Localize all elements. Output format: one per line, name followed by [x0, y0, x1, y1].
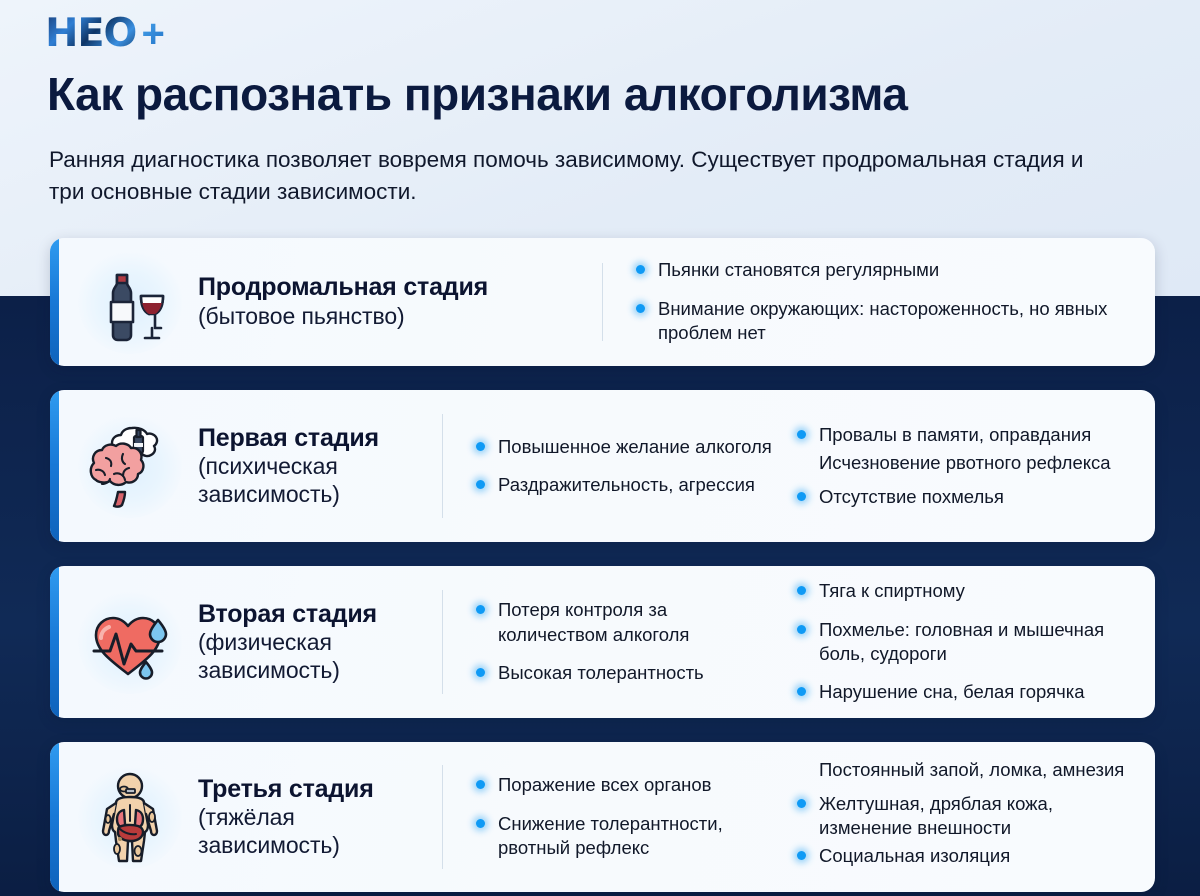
symptom-columns: Пьянки становятся регулярными Внимание о…: [603, 238, 1155, 366]
stage-title: Вторая стадия: [198, 600, 442, 630]
stage-subtitle: (психическая зависимость): [198, 453, 442, 508]
list-item: Высокая толерантность: [476, 661, 773, 685]
list-item: Исчезновение рвотного рефлекса: [797, 451, 1133, 475]
bullet-dot-icon: [476, 819, 485, 828]
symptom-columns: Поражение всех органов Снижение толерант…: [443, 742, 1155, 892]
list-item-label: Исчезновение рвотного рефлекса: [819, 452, 1111, 473]
list-item: Раздражительность, агрессия: [476, 473, 773, 497]
list-item-label: Тяга к спиртному: [819, 580, 965, 601]
list-item: Похмелье: головная и мышечная боль, судо…: [797, 618, 1133, 667]
list-item-label: Потеря контроля за количеством алкоголя: [498, 599, 689, 644]
list-item-label: Пьянки становятся регулярными: [658, 259, 939, 280]
symptom-columns: Повышенное желание алкоголя Раздражитель…: [443, 390, 1155, 542]
bullet-dot-icon: [797, 687, 806, 696]
heart-with-pulse-icon: [78, 590, 182, 694]
list-item: Поражение всех органов: [476, 773, 773, 797]
list-item: Снижение толерантности, рвотный рефлекс: [476, 812, 773, 861]
symptom-columns: Потеря контроля за количеством алкоголя …: [443, 566, 1155, 718]
list-item: Постоянный запой, ломка, амнезия: [797, 758, 1133, 782]
list-item-label: Внимание окружающих: настороженность, но…: [658, 298, 1107, 343]
symptom-column-b: Постоянный запой, ломка, амнезия Желтушн…: [773, 758, 1133, 876]
list-item-label: Нарушение сна, белая горячка: [819, 681, 1085, 702]
bullet-dot-icon: [476, 442, 485, 451]
bullet-dot-icon: [797, 492, 806, 501]
list-item: Тяга к спиртному: [797, 579, 1133, 603]
list-item: Нарушение сна, белая горячка: [797, 680, 1133, 704]
list-item-label: Повышенное желание алкоголя: [498, 436, 772, 457]
list-item-label: Провалы в памяти, оправдания: [819, 424, 1091, 445]
wine-bottle-and-glass-icon: [78, 250, 182, 354]
brand-logo-plus: +: [141, 16, 163, 52]
page-subtitle: Ранняя диагностика позволяет вовремя пом…: [49, 144, 1109, 208]
bullet-dot-icon: [797, 430, 806, 439]
list-item-label: Желтушная, дряблая кожа, изменение внешн…: [819, 793, 1053, 838]
symptom-column-a: Потеря контроля за количеством алкоголя …: [443, 591, 773, 692]
list-item-label: Снижение толерантности, рвотный рефлекс: [498, 813, 723, 858]
symptom-column-b: Тяга к спиртному Похмелье: головная и мы…: [773, 572, 1133, 712]
bullet-dot-icon: [476, 605, 485, 614]
list-item: Пьянки становятся регулярными: [636, 258, 1123, 282]
list-item: Провалы в памяти, оправдания: [797, 423, 1133, 447]
bullet-dot-icon: [797, 799, 806, 808]
bullet-dot-icon: [476, 668, 485, 677]
stage-title: Третья стадия: [198, 775, 442, 805]
bullet-dot-icon: [476, 780, 485, 789]
stage-name-block: Продромальная стадия (бытовое пьянство): [198, 273, 488, 330]
stage-title: Первая стадия: [198, 424, 442, 454]
brain-with-thought-bubble-icon: [78, 414, 182, 518]
stage-subtitle: (тяжёлая зависимость): [198, 804, 442, 859]
list-item: Желтушная, дряблая кожа, изменение внешн…: [797, 792, 1133, 841]
list-item: Внимание окружающих: настороженность, но…: [636, 297, 1123, 346]
symptom-column-a: Поражение всех органов Снижение толерант…: [443, 766, 773, 867]
symptom-column-a: Пьянки становятся регулярными Внимание о…: [603, 251, 1123, 352]
stage-card-prodromal: Продромальная стадия (бытовое пьянство) …: [50, 238, 1155, 366]
bullet-dot-icon: [636, 265, 645, 274]
brand-logo-word: НЕО: [45, 14, 136, 53]
list-item: Отсутствие похмелья: [797, 485, 1133, 509]
stage-card-first: Первая стадия (психическая зависимость) …: [50, 390, 1155, 542]
list-item: Повышенное желание алкоголя: [476, 435, 773, 459]
stage-title: Продромальная стадия: [198, 273, 488, 303]
list-item-label: Отсутствие похмелья: [819, 486, 1004, 507]
bullet-dot-icon: [797, 851, 806, 860]
bullet-dot-icon: [476, 480, 485, 489]
list-item-label: Социальная изоляция: [819, 845, 1010, 866]
list-item-label: Похмелье: головная и мышечная боль, судо…: [819, 619, 1104, 664]
stage-card-header: Первая стадия (психическая зависимость): [50, 390, 442, 542]
bullet-dot-icon: [797, 625, 806, 634]
stage-card-header: Третья стадия (тяжёлая зависимость): [50, 742, 442, 892]
brand-logo: НЕО+: [46, 14, 164, 53]
list-item-label: Постоянный запой, ломка, амнезия: [819, 759, 1124, 780]
human-body-organs-icon: [78, 765, 182, 869]
list-item-label: Высокая толерантность: [498, 662, 704, 683]
stage-card-third: Третья стадия (тяжёлая зависимость) Пора…: [50, 742, 1155, 892]
page-title: Как распознать признаки алкоголизма: [47, 70, 1167, 119]
stage-card-header: Продромальная стадия (бытовое пьянство): [50, 238, 602, 366]
symptom-column-a: Повышенное желание алкоголя Раздражитель…: [443, 428, 773, 505]
stage-name-block: Вторая стадия (физическая зависимость): [198, 600, 442, 685]
stage-subtitle: (физическая зависимость): [198, 629, 442, 684]
stage-name-block: Первая стадия (психическая зависимость): [198, 424, 442, 509]
list-item-label: Раздражительность, агрессия: [498, 474, 755, 495]
list-item: Социальная изоляция: [797, 844, 1133, 868]
stage-card-second: Вторая стадия (физическая зависимость) П…: [50, 566, 1155, 718]
bullet-dot-icon: [797, 586, 806, 595]
list-item-label: Поражение всех органов: [498, 774, 712, 795]
list-item: Потеря контроля за количеством алкоголя: [476, 598, 773, 647]
symptom-column-b: Провалы в памяти, оправдания Исчезновени…: [773, 416, 1133, 516]
stage-card-header: Вторая стадия (физическая зависимость): [50, 566, 442, 718]
bullet-dot-icon: [636, 304, 645, 313]
stage-subtitle: (бытовое пьянство): [198, 303, 488, 331]
stage-name-block: Третья стадия (тяжёлая зависимость): [198, 775, 442, 860]
